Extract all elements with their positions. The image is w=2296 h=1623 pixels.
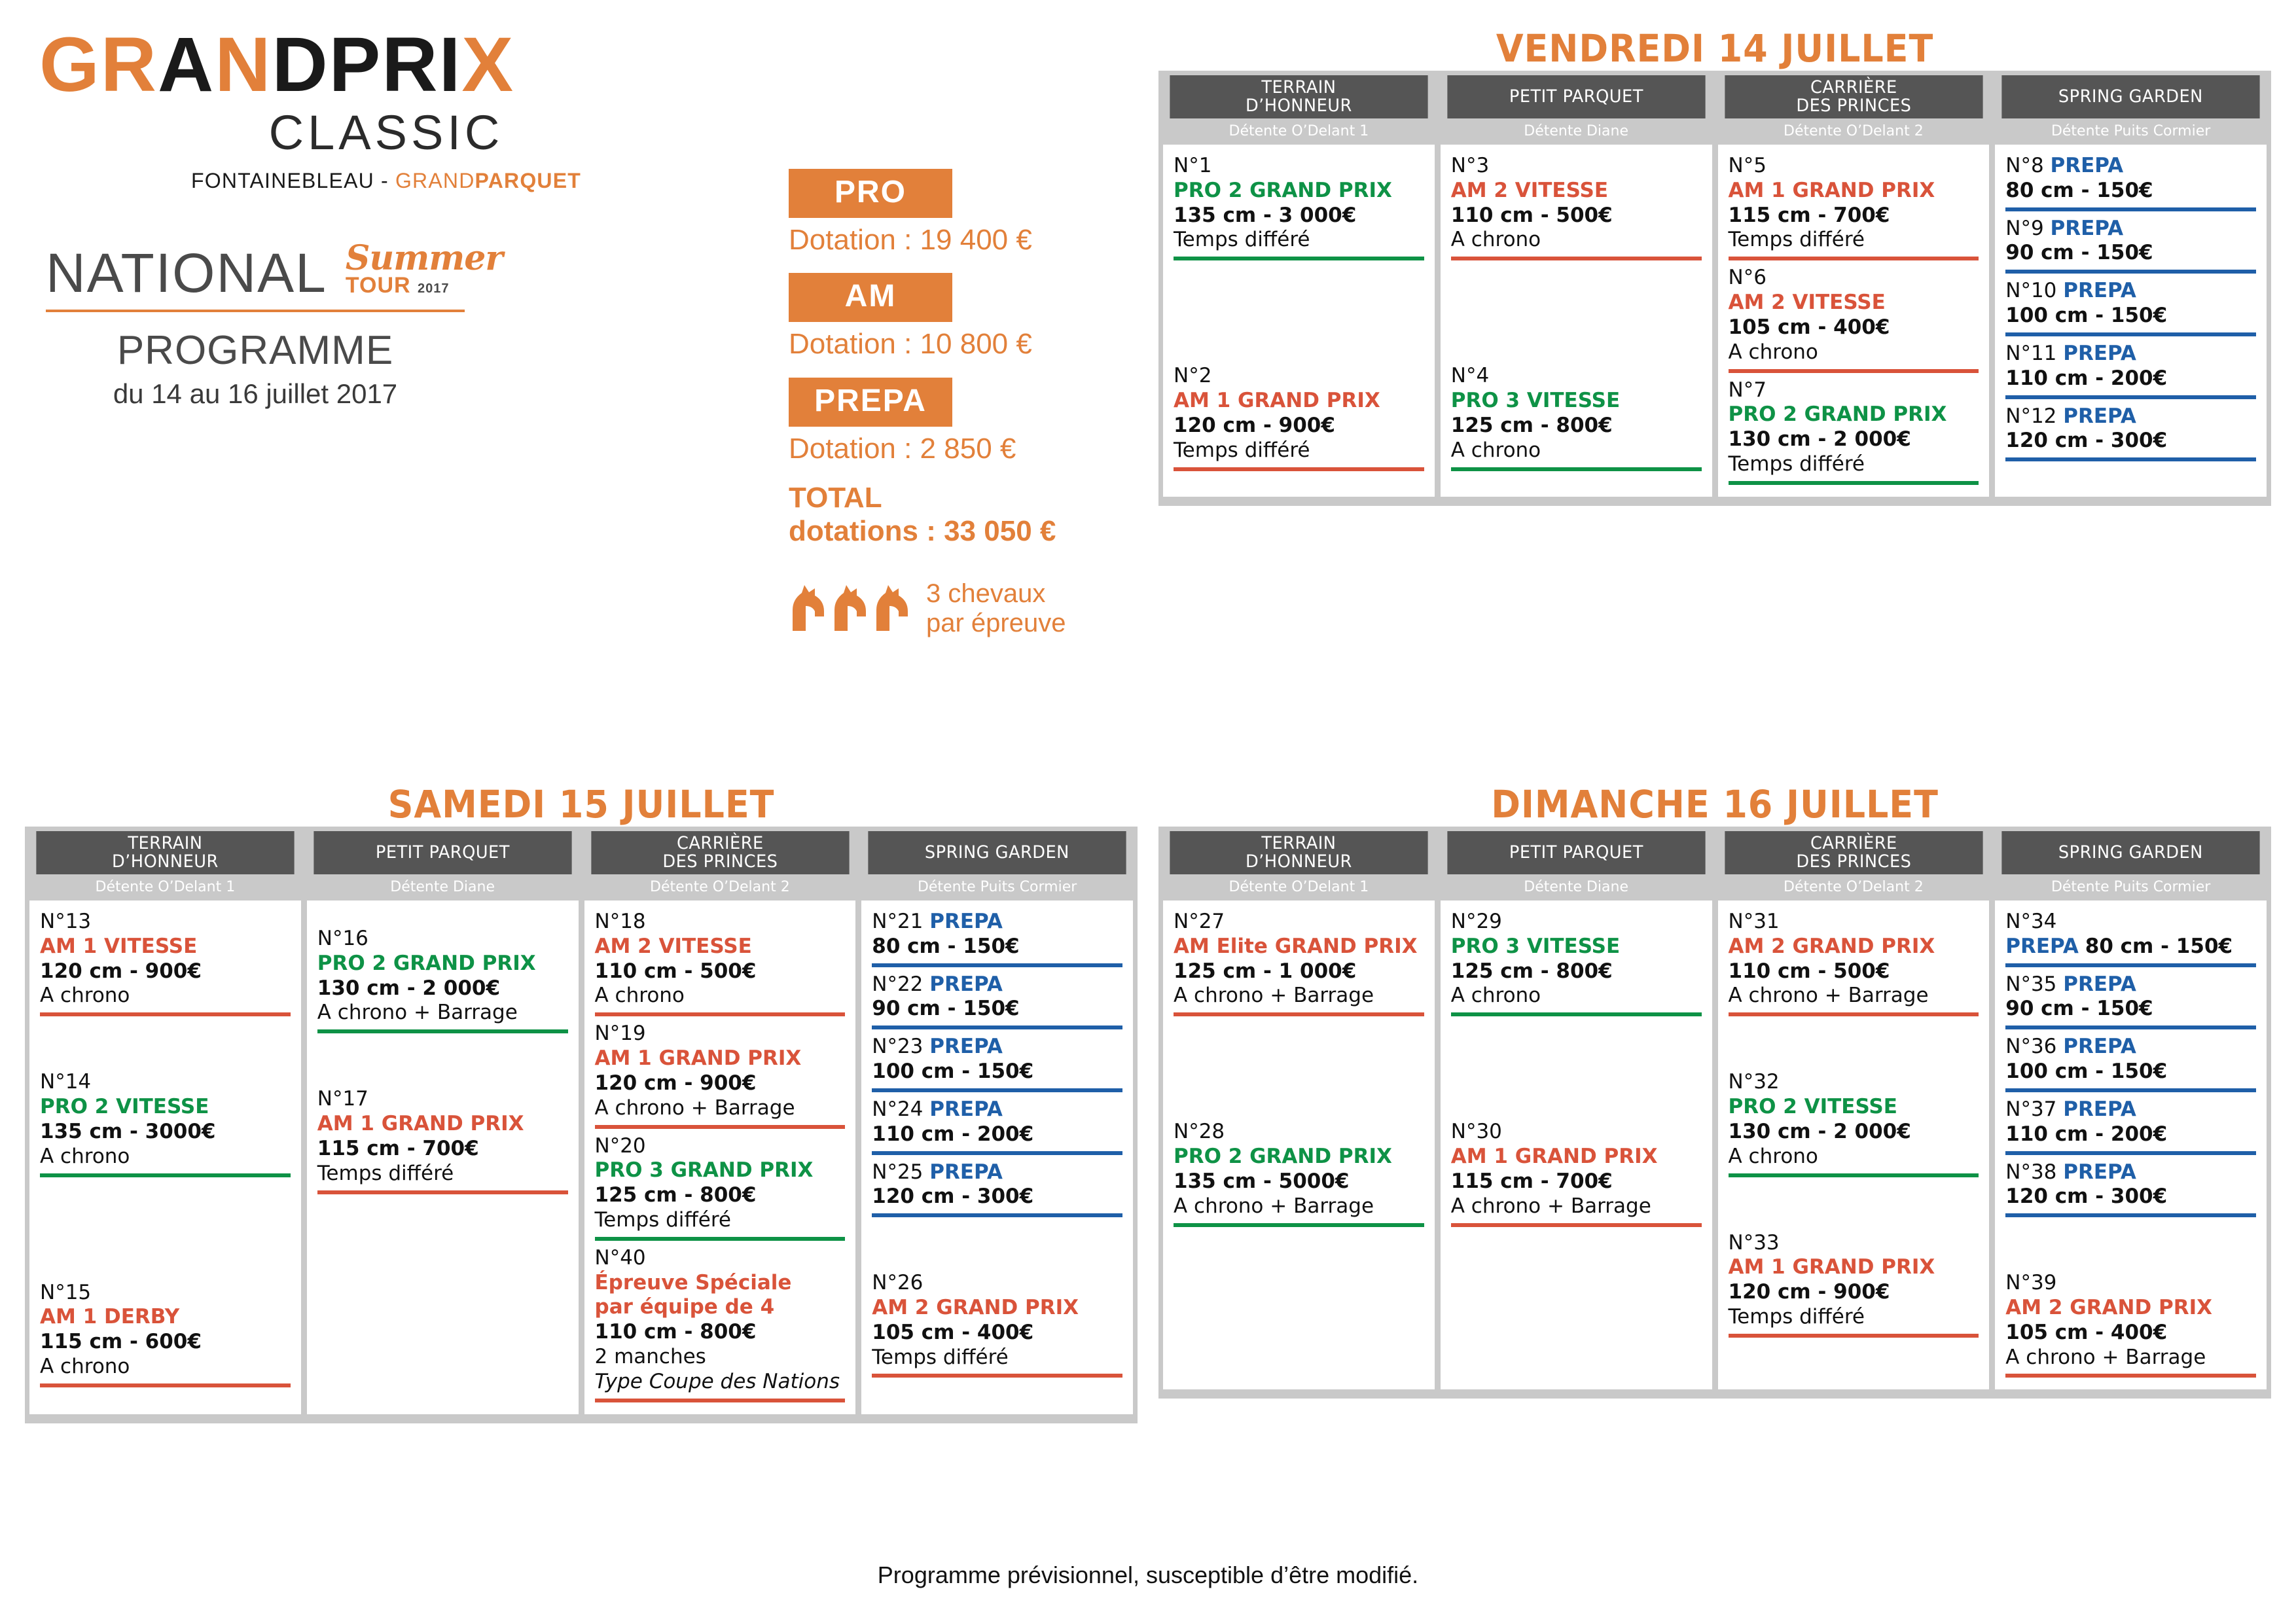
event-name: AM 1 DERBY — [40, 1305, 291, 1330]
event-mode: Temps différé — [1729, 228, 1979, 253]
event-entry[interactable]: N°26AM 2 GRAND PRIX105 cm - 400€Temps di… — [872, 1271, 1122, 1378]
event-spec: 120 cm - 900€ — [1729, 1280, 1979, 1305]
ring-header: PETIT PARQUET — [314, 831, 571, 874]
event-mode: Temps différé — [595, 1208, 846, 1233]
event-name: PREPA — [929, 1035, 1003, 1058]
event-number: N°29 — [1451, 910, 1702, 935]
dotation-pro-value: Dotation : 19 400 € — [789, 224, 1070, 256]
event-underline — [595, 1012, 846, 1016]
event-name: AM 1 GRAND PRIX — [1451, 1145, 1702, 1169]
ring-name-line1: CARRIÈRE — [662, 834, 778, 853]
ring-header-row: TERRAIND’HONNEURPETIT PARQUETCARRIÈREDES… — [1158, 827, 2271, 874]
event-name: PREPA — [2063, 1160, 2136, 1184]
event-underline — [2005, 963, 2256, 967]
event-name: PRO 3 VITESSE — [1451, 389, 1702, 414]
event-name: PREPA — [929, 972, 1003, 996]
event-number: N°37 — [2005, 1097, 2056, 1121]
event-spec: 80 cm - 150€ — [872, 935, 1122, 959]
event-underline — [40, 1173, 291, 1177]
event-entry[interactable]: N°33AM 1 GRAND PRIX120 cm - 900€Temps di… — [1729, 1231, 1979, 1338]
detente-label: Détente O’Delant 2 — [1718, 121, 1990, 141]
event-entry[interactable]: N°9 PREPA90 cm - 150€ — [2005, 217, 2256, 274]
detente-label: Détente Diane — [1441, 121, 1712, 141]
footer-note: Programme prévisionnel, susceptible d’êt… — [0, 1561, 2296, 1589]
badge-pro: PRO — [789, 169, 952, 218]
event-number: N°11 — [2005, 342, 2056, 365]
event-name: AM 1 GRAND PRIX — [595, 1046, 846, 1071]
event-underline — [595, 1125, 846, 1129]
event-underline — [1729, 481, 1979, 485]
dotation-am-value: Dotation : 10 800 € — [789, 329, 1070, 360]
event-header: PREPA 80 cm - 150€ — [2005, 935, 2256, 959]
tour-year: 2017 — [418, 281, 450, 296]
detente-header-row: Détente O’Delant 1Détente DianeDétente O… — [1158, 118, 2271, 141]
event-spec: 125 cm - 800€ — [595, 1183, 846, 1208]
ring-name-line2: DES PRINCES — [1796, 853, 1911, 871]
event-number: N°6 — [1729, 266, 1979, 291]
event-name: AM 2 GRAND PRIX — [1729, 935, 1979, 959]
event-number: N°36 — [2005, 1035, 2056, 1058]
spacer — [317, 1039, 568, 1087]
day-title: DIMANCHE 16 JUILLET — [1198, 782, 2233, 827]
detente-label: Détente Puits Cormier — [1995, 121, 2267, 141]
event-mode: A chrono — [1451, 228, 1702, 253]
event-entry[interactable]: N°34PREPA 80 cm - 150€ — [2005, 910, 2256, 967]
event-name: AM 2 GRAND PRIX — [2005, 1296, 2256, 1321]
detente-label: Détente Diane — [1441, 877, 1712, 897]
event-underline — [1729, 257, 1979, 260]
event-entry[interactable]: N°30AM 1 GRAND PRIX115 cm - 700€A chrono… — [1451, 1120, 1702, 1226]
horse-head-icon — [831, 584, 869, 634]
event-number: N°14 — [40, 1070, 291, 1095]
event-mode: A chrono + Barrage — [595, 1096, 846, 1121]
event-entry[interactable]: N°18AM 2 VITESSE110 cm - 500€A chrono — [595, 910, 846, 1016]
ring-header: SPRING GARDEN — [2002, 75, 2260, 118]
event-number: N°15 — [40, 1281, 291, 1306]
event-name: PREPA — [2063, 1035, 2136, 1058]
ring-column: N°18AM 2 VITESSE110 cm - 500€A chronoN°1… — [584, 901, 856, 1414]
ring-name-line1: PETIT PARQUET — [1509, 88, 1643, 106]
event-underline — [1451, 257, 1702, 260]
event-underline — [317, 1190, 568, 1194]
event-mode: Temps différé — [872, 1346, 1122, 1370]
detente-label: Détente Diane — [307, 877, 579, 897]
detente-header-row: Détente O’Delant 1Détente DianeDétente O… — [1158, 874, 2271, 897]
day-table-vendredi: VENDREDI 14 JUILLETTERRAIND’HONNEURPETIT… — [1158, 26, 2271, 506]
ring-name-line1: SPRING GARDEN — [925, 844, 1069, 862]
divider-rule — [46, 310, 465, 312]
event-spec: 110 cm - 800€ — [595, 1320, 846, 1345]
event-name: PREPA — [929, 910, 1003, 933]
schedule-table: TERRAIND’HONNEURPETIT PARQUETCARRIÈREDES… — [1158, 71, 2271, 506]
event-entry[interactable]: N°4PRO 3 VITESSE125 cm - 800€A chrono — [1451, 364, 1702, 471]
event-spec: 125 cm - 800€ — [1451, 959, 1702, 984]
event-spec: 100 cm - 150€ — [2005, 1060, 2256, 1084]
event-name: PRO 2 GRAND PRIX — [1174, 1145, 1424, 1169]
event-entry[interactable]: N°40Épreuve Spécialepar équipe de 4110 c… — [595, 1246, 846, 1402]
ring-name-line2: DES PRINCES — [1796, 97, 1911, 115]
event-spec: 120 cm - 300€ — [2005, 429, 2256, 454]
ring-header-row: TERRAIND’HONNEURPETIT PARQUETCARRIÈREDES… — [25, 827, 1138, 874]
schedule-body: N°1PRO 2 GRAND PRIX135 cm - 3 000€Temps … — [1158, 141, 2271, 497]
event-name: AM 1 GRAND PRIX — [317, 1112, 568, 1137]
event-name: AM 2 VITESSE — [1451, 179, 1702, 204]
event-header: N°38 PREPA — [2005, 1160, 2256, 1185]
event-underline — [2005, 332, 2256, 336]
national-title: NATIONAL — [46, 245, 327, 300]
event-name: AM 1 VITESSE — [40, 935, 291, 959]
event-number: N°31 — [1729, 910, 1979, 935]
event-name: PREPA — [929, 1097, 1003, 1121]
event-header: N°35 PREPA — [2005, 972, 2256, 997]
ring-header-row: TERRAIND’HONNEURPETIT PARQUETCARRIÈREDES… — [1158, 71, 2271, 118]
event-number: N°27 — [1174, 910, 1424, 935]
event-spec: 120 cm - 900€ — [595, 1071, 846, 1096]
ring-header: PETIT PARQUET — [1447, 831, 1705, 874]
spacer — [2005, 1222, 2256, 1271]
event-entry[interactable]: N°28PRO 2 GRAND PRIX135 cm - 5000€A chro… — [1174, 1120, 1424, 1226]
event-entry[interactable]: N°10 PREPA100 cm - 150€ — [2005, 279, 2256, 336]
event-mode: Temps différé — [1174, 438, 1424, 463]
event-number: N°25 — [872, 1160, 923, 1184]
schedule-body: N°13AM 1 VITESSE120 cm - 900€A chronoN°1… — [25, 897, 1138, 1414]
event-entry[interactable]: N°19AM 1 GRAND PRIX120 cm - 900€A chrono… — [595, 1022, 846, 1128]
detente-header-row: Détente O’Delant 1Détente DianeDétente O… — [25, 874, 1138, 897]
event-number: N°16 — [317, 927, 568, 952]
event-entry[interactable]: N°14PRO 2 VITESSE135 cm - 3000€A chrono — [40, 1070, 291, 1177]
event-entry[interactable]: N°2AM 1 GRAND PRIX120 cm - 900€Temps dif… — [1174, 364, 1424, 471]
event-underline — [872, 1026, 1122, 1029]
logo-grandprix: GRANDPRIX — [39, 26, 733, 103]
event-header: N°37 PREPA — [2005, 1097, 2256, 1122]
event-entry[interactable]: N°1PRO 2 GRAND PRIX135 cm - 3 000€Temps … — [1174, 154, 1424, 260]
event-underline — [2005, 395, 2256, 399]
event-entry[interactable]: N°16PRO 2 GRAND PRIX130 cm - 2 000€A chr… — [317, 927, 568, 1033]
event-number: N°38 — [2005, 1160, 2056, 1184]
event-entry[interactable]: N°21 PREPA80 cm - 150€ — [872, 910, 1122, 967]
event-name-line2: par équipe de 4 — [595, 1295, 846, 1320]
event-entry[interactable]: N°3AM 2 VITESSE110 cm - 500€A chrono — [1451, 154, 1702, 260]
event-header: N°21 PREPA — [872, 910, 1122, 935]
event-number: N°21 — [872, 910, 923, 933]
event-underline — [1729, 369, 1979, 373]
event-entry[interactable]: N°7PRO 2 GRAND PRIX130 cm - 2 000€Temps … — [1729, 378, 1979, 485]
event-entry[interactable]: N°22 PREPA90 cm - 150€ — [872, 972, 1122, 1030]
event-header: N°36 PREPA — [2005, 1035, 2256, 1060]
event-entry[interactable]: N°11 PREPA110 cm - 200€ — [2005, 342, 2256, 399]
ring-name-line2: D’HONNEUR — [1246, 853, 1352, 871]
detente-label: Détente O’Delant 2 — [584, 877, 856, 897]
event-spec: 110 cm - 500€ — [1451, 204, 1702, 228]
ring-name-line1: CARRIÈRE — [1796, 79, 1911, 97]
event-underline — [40, 1012, 291, 1016]
event-spec: 115 cm - 600€ — [40, 1330, 291, 1355]
event-underline — [1174, 467, 1424, 471]
event-number: N°22 — [872, 972, 923, 996]
event-entry[interactable]: N°12 PREPA120 cm - 300€ — [2005, 404, 2256, 462]
ring-column: N°31AM 2 GRAND PRIX110 cm - 500€A chrono… — [1718, 901, 1990, 1389]
event-mode: Temps différé — [1174, 228, 1424, 253]
event-underline — [872, 1213, 1122, 1217]
ring-name-line2: D’HONNEUR — [112, 853, 219, 871]
event-number: N°13 — [40, 910, 291, 935]
day-title: VENDREDI 14 JUILLET — [1198, 26, 2233, 71]
event-header: N°25 PREPA — [872, 1160, 1122, 1185]
detente-label: Détente O’Delant 1 — [1163, 121, 1435, 141]
event-spec: 120 cm - 300€ — [2005, 1185, 2256, 1209]
event-spec: 90 cm - 150€ — [2005, 997, 2256, 1022]
ring-name-line1: PETIT PARQUET — [1509, 844, 1643, 862]
event-spec: 110 cm - 500€ — [595, 959, 846, 984]
schedule-body: N°27AM Elite GRAND PRIX125 cm - 1 000€A … — [1158, 897, 2271, 1389]
event-spec: 130 cm - 2 000€ — [317, 976, 568, 1001]
event-number: N°12 — [2005, 404, 2056, 428]
horse-head-icon — [872, 584, 910, 634]
ring-name-line2: D’HONNEUR — [1246, 97, 1352, 115]
event-name: PREPA — [2063, 404, 2136, 428]
event-number: N°8 — [2005, 154, 2043, 177]
event-underline — [2005, 270, 2256, 274]
event-spec: 110 cm - 200€ — [2005, 1122, 2256, 1147]
dotation-total-value: dotations : 33 050 € — [789, 515, 1070, 548]
event-mode: A chrono — [1451, 984, 1702, 1008]
ring-column: N°3AM 2 VITESSE110 cm - 500€A chronoN°4P… — [1441, 145, 1712, 497]
event-entry[interactable]: N°29PRO 3 VITESSE125 cm - 800€A chrono — [1451, 910, 1702, 1016]
event-number: N°2 — [1174, 364, 1424, 389]
event-number: N°23 — [872, 1035, 923, 1058]
ring-column: N°27AM Elite GRAND PRIX125 cm - 1 000€A … — [1163, 901, 1435, 1389]
event-name: PRO 3 GRAND PRIX — [595, 1158, 846, 1183]
spacer — [40, 1183, 291, 1281]
national-row: NATIONAL Summer TOUR 2017 — [39, 245, 733, 300]
event-entry[interactable]: N°36 PREPA100 cm - 150€ — [2005, 1035, 2256, 1092]
event-number: N°26 — [872, 1271, 1122, 1296]
event-number: N°39 — [2005, 1271, 2256, 1296]
event-underline — [595, 1399, 846, 1402]
dotation-total-label: TOTAL — [789, 482, 1070, 515]
day-table-samedi: SAMEDI 15 JUILLETTERRAIND’HONNEURPETIT P… — [25, 782, 1138, 1423]
event-header: N°9 PREPA — [2005, 217, 2256, 241]
event-number: N°18 — [595, 910, 846, 935]
event-underline — [1174, 1223, 1424, 1227]
ring-column: N°13AM 1 VITESSE120 cm - 900€A chronoN°1… — [29, 901, 301, 1414]
ring-column: N°21 PREPA80 cm - 150€N°22 PREPA90 cm - … — [861, 901, 1133, 1414]
event-mode: A chrono — [1729, 1145, 1979, 1169]
event-mode: A chrono + Barrage — [1174, 984, 1424, 1008]
event-underline — [872, 1088, 1122, 1092]
event-mode-note: Type Coupe des Nations — [595, 1370, 846, 1395]
event-spec: 120 cm - 900€ — [40, 959, 291, 984]
event-spec: 105 cm - 400€ — [1729, 315, 1979, 340]
event-mode: A chrono + Barrage — [1451, 1194, 1702, 1219]
event-underline — [872, 1374, 1122, 1378]
event-entry[interactable]: N°39AM 2 GRAND PRIX105 cm - 400€A chrono… — [2005, 1271, 2256, 1378]
tour-label: TOUR — [346, 273, 411, 298]
event-spec: 135 cm - 3000€ — [40, 1120, 291, 1145]
event-mode: 2 manches — [595, 1345, 846, 1370]
event-name: PREPA — [2063, 972, 2136, 996]
event-number: N°5 — [1729, 154, 1979, 179]
event-mode: Temps différé — [1729, 452, 1979, 477]
location-grand: GRAND — [395, 169, 475, 192]
event-underline — [1451, 467, 1702, 471]
location-parquet: PARQUET — [475, 169, 581, 192]
event-entry[interactable]: N°8 PREPA80 cm - 150€ — [2005, 154, 2256, 211]
event-spec: 80 cm - 150€ — [2085, 935, 2233, 958]
event-name: PRO 3 VITESSE — [1451, 935, 1702, 959]
brand-block: GRANDPRIX CLASSIC FONTAINEBLEAU - GRANDP… — [39, 26, 733, 408]
event-underline — [1174, 257, 1424, 260]
event-entry[interactable]: N°38 PREPA120 cm - 300€ — [2005, 1160, 2256, 1218]
programme-dates: du 14 au 16 juillet 2017 — [46, 380, 465, 408]
event-mode: Temps différé — [1729, 1305, 1979, 1330]
event-mode: A chrono — [40, 984, 291, 1008]
event-number: N°24 — [872, 1097, 923, 1121]
event-name: PRO 2 VITESSE — [40, 1095, 291, 1120]
event-name: AM Elite GRAND PRIX — [1174, 935, 1424, 959]
event-entry[interactable]: N°17AM 1 GRAND PRIX115 cm - 700€Temps di… — [317, 1087, 568, 1194]
event-underline — [1729, 1173, 1979, 1177]
badge-prepa: PREPA — [789, 378, 952, 427]
event-number: N°35 — [2005, 972, 2056, 996]
event-number: N°30 — [1451, 1120, 1702, 1145]
event-mode: A chrono + Barrage — [1729, 984, 1979, 1008]
event-spec: 110 cm - 200€ — [2005, 366, 2256, 391]
event-name: PREPA — [2051, 154, 2124, 177]
event-underline — [2005, 457, 2256, 461]
summer-word: Summer — [346, 242, 503, 274]
event-number: N°17 — [317, 1087, 568, 1112]
event-spec: 115 cm - 700€ — [317, 1137, 568, 1162]
event-header: N°10 PREPA — [2005, 279, 2256, 304]
event-name: PREPA — [2063, 342, 2136, 365]
event-entry[interactable]: N°35 PREPA90 cm - 150€ — [2005, 972, 2256, 1030]
event-entry[interactable]: N°32PRO 2 VITESSE130 cm - 2 000€A chrono — [1729, 1070, 1979, 1177]
event-mode: A chrono — [1729, 340, 1979, 365]
location-prefix: FONTAINEBLEAU - — [191, 169, 395, 192]
event-entry[interactable]: N°6AM 2 VITESSE105 cm - 400€A chrono — [1729, 266, 1979, 372]
event-underline — [2005, 1213, 2256, 1217]
event-underline — [40, 1383, 291, 1387]
event-number: N°32 — [1729, 1070, 1979, 1095]
ring-column: N°5AM 1 GRAND PRIX115 cm - 700€Temps dif… — [1718, 145, 1990, 497]
event-entry[interactable]: N°24 PREPA110 cm - 200€ — [872, 1097, 1122, 1155]
horses-line-1: 3 chevaux — [926, 579, 1045, 608]
event-entry[interactable]: N°27AM Elite GRAND PRIX125 cm - 1 000€A … — [1174, 910, 1424, 1016]
spacer — [317, 910, 568, 927]
event-name: Épreuve Spéciale — [595, 1271, 846, 1296]
event-name: PREPA — [2063, 1097, 2136, 1121]
detente-label: Détente O’Delant 2 — [1718, 877, 1990, 897]
event-header: N°24 PREPA — [872, 1097, 1122, 1122]
event-spec: 90 cm - 150€ — [872, 997, 1122, 1022]
detente-label: Détente O’Delant 1 — [1163, 877, 1435, 897]
event-spec: 125 cm - 800€ — [1451, 414, 1702, 438]
event-number: N°28 — [1174, 1120, 1424, 1145]
event-entry[interactable]: N°23 PREPA100 cm - 150€ — [872, 1035, 1122, 1092]
event-spec: 120 cm - 300€ — [872, 1185, 1122, 1209]
event-spec: 110 cm - 500€ — [1729, 959, 1979, 984]
event-entry[interactable]: N°37 PREPA110 cm - 200€ — [2005, 1097, 2256, 1155]
event-spec: 135 cm - 5000€ — [1174, 1169, 1424, 1194]
spacer — [1451, 1022, 1702, 1120]
page-title: PROGRAMME — [46, 330, 465, 371]
event-name: PRO 2 GRAND PRIX — [1174, 179, 1424, 204]
spacer — [1174, 1022, 1424, 1120]
event-spec: 115 cm - 700€ — [1451, 1169, 1702, 1194]
event-mode: Temps différé — [317, 1162, 568, 1186]
event-number: N°34 — [2005, 910, 2256, 935]
event-spec: 100 cm - 150€ — [872, 1060, 1122, 1084]
event-underline — [2005, 1088, 2256, 1092]
ring-name-line1: TERRAIN — [1246, 834, 1352, 853]
event-spec: 80 cm - 150€ — [2005, 179, 2256, 204]
ring-column: N°1PRO 2 GRAND PRIX135 cm - 3 000€Temps … — [1163, 145, 1435, 497]
event-entry[interactable]: N°15AM 1 DERBY115 cm - 600€A chrono — [40, 1281, 291, 1387]
event-number: N°4 — [1451, 364, 1702, 389]
detente-label: Détente Puits Cormier — [1995, 877, 2267, 897]
event-underline — [2005, 1151, 2256, 1155]
event-name: PREPA — [2051, 217, 2124, 240]
ring-name-line1: PETIT PARQUET — [376, 844, 510, 862]
ring-header: CARRIÈREDES PRINCES — [1725, 831, 1982, 874]
horses-line-2: par épreuve — [926, 609, 1066, 637]
event-underline — [1729, 1012, 1979, 1016]
event-number: N°3 — [1451, 154, 1702, 179]
event-name: PRO 2 GRAND PRIX — [1729, 402, 1979, 427]
event-number: N°1 — [1174, 154, 1424, 179]
event-underline — [1174, 1012, 1424, 1016]
event-spec: 125 cm - 1 000€ — [1174, 959, 1424, 984]
event-spec: 120 cm - 900€ — [1174, 414, 1424, 438]
logo-classic: CLASSIC — [39, 109, 733, 157]
horses-text: 3 chevaux par épreuve — [926, 579, 1066, 638]
event-entry[interactable]: N°13AM 1 VITESSE120 cm - 900€A chrono — [40, 910, 291, 1016]
ring-name-line1: CARRIÈRE — [1796, 834, 1911, 853]
event-entry[interactable]: N°25 PREPA120 cm - 300€ — [872, 1160, 1122, 1218]
horse-head-icon — [789, 584, 827, 634]
event-underline — [317, 1029, 568, 1033]
spacer — [1729, 1183, 1979, 1231]
schedule-table: TERRAIND’HONNEURPETIT PARQUETCARRIÈREDES… — [1158, 827, 2271, 1399]
event-name: PREPA — [929, 1160, 1003, 1184]
event-entry[interactable]: N°31AM 2 GRAND PRIX110 cm - 500€A chrono… — [1729, 910, 1979, 1016]
event-mode: A chrono + Barrage — [2005, 1346, 2256, 1370]
detente-label: Détente Puits Cormier — [861, 877, 1133, 897]
event-mode: A chrono + Barrage — [1174, 1194, 1424, 1219]
ring-header: PETIT PARQUET — [1447, 75, 1705, 118]
ring-header: CARRIÈREDES PRINCES — [591, 831, 849, 874]
ring-column: N°8 PREPA80 cm - 150€N°9 PREPA90 cm - 15… — [1995, 145, 2267, 497]
event-spec: 90 cm - 150€ — [2005, 241, 2256, 266]
spacer — [1729, 1022, 1979, 1070]
ring-name-line1: SPRING GARDEN — [2058, 844, 2203, 862]
event-underline — [2005, 207, 2256, 211]
ring-column: N°16PRO 2 GRAND PRIX130 cm - 2 000€A chr… — [307, 901, 579, 1414]
event-underline — [1729, 1334, 1979, 1338]
event-entry[interactable]: N°20PRO 3 GRAND PRIX125 cm - 800€Temps d… — [595, 1134, 846, 1241]
event-header: N°11 PREPA — [2005, 342, 2256, 366]
event-header: N°12 PREPA — [2005, 404, 2256, 429]
event-spec: 130 cm - 2 000€ — [1729, 1120, 1979, 1145]
ring-column: N°34PREPA 80 cm - 150€N°35 PREPA90 cm - … — [1995, 901, 2267, 1389]
event-entry[interactable]: N°5AM 1 GRAND PRIX115 cm - 700€Temps dif… — [1729, 154, 1979, 260]
event-number: N°40 — [595, 1246, 846, 1271]
schedule-table: TERRAIND’HONNEURPETIT PARQUETCARRIÈREDES… — [25, 827, 1138, 1423]
event-name: PRO 2 VITESSE — [1729, 1095, 1979, 1120]
event-number: N°33 — [1729, 1231, 1979, 1256]
event-number: N°9 — [2005, 217, 2043, 240]
